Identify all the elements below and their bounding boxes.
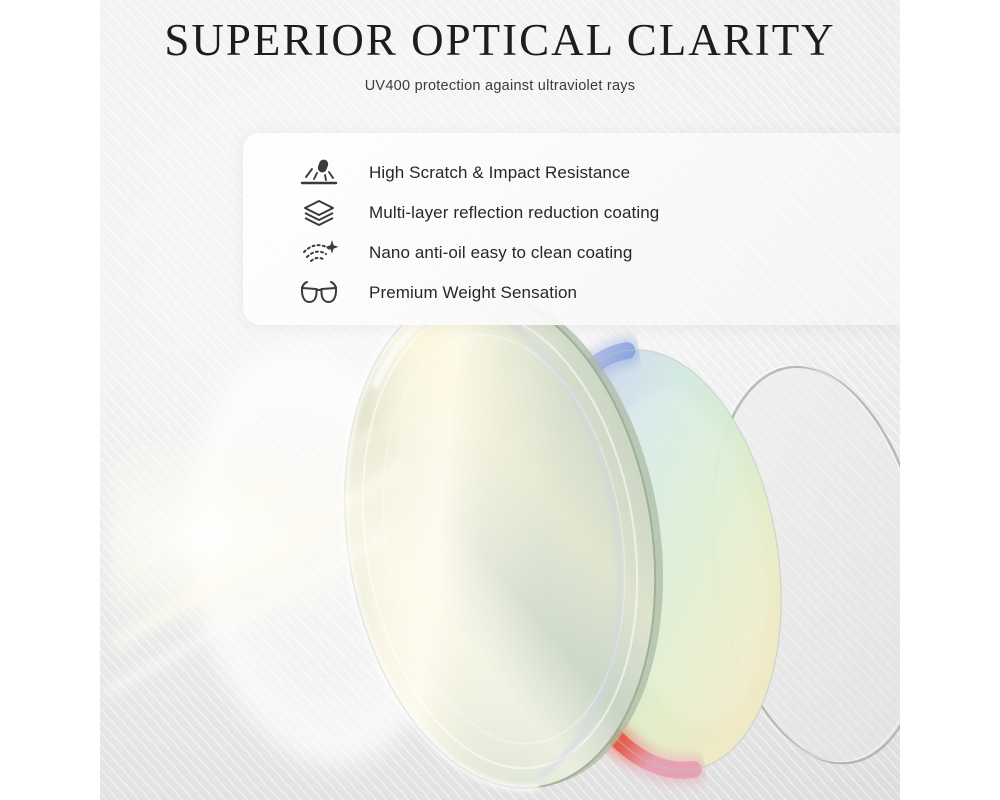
layers-icon [296, 196, 342, 230]
feature-label: High Scratch & Impact Resistance [369, 163, 630, 183]
nano-sparkle-icon [296, 236, 342, 270]
content-background: SUPERIOR OPTICAL CLARITY UV400 protectio… [100, 0, 900, 800]
infographic-canvas: SUPERIOR OPTICAL CLARITY UV400 protectio… [0, 0, 1000, 800]
feature-panel: High Scratch & Impact Resistance Multi-l… [243, 133, 900, 325]
feature-label: Nano anti-oil easy to clean coating [369, 243, 632, 263]
impact-resistance-icon [296, 156, 342, 190]
page-title: SUPERIOR OPTICAL CLARITY [100, 16, 900, 65]
header-block: SUPERIOR OPTICAL CLARITY UV400 protectio… [100, 16, 900, 94]
feature-item-premium-weight: Premium Weight Sensation [243, 273, 900, 313]
feature-item-scratch-resistance: High Scratch & Impact Resistance [243, 153, 900, 193]
feature-item-multilayer-coating: Multi-layer reflection reduction coating [243, 193, 900, 233]
page-subtitle: UV400 protection against ultraviolet ray… [100, 78, 900, 94]
feature-label: Multi-layer reflection reduction coating [369, 203, 659, 223]
eyeglasses-icon [296, 276, 342, 310]
lens-stack-illustration [100, 0, 900, 800]
feature-item-nano-anti-oil: Nano anti-oil easy to clean coating [243, 233, 900, 273]
feature-list: High Scratch & Impact Resistance Multi-l… [243, 133, 900, 313]
feature-label: Premium Weight Sensation [369, 283, 577, 303]
